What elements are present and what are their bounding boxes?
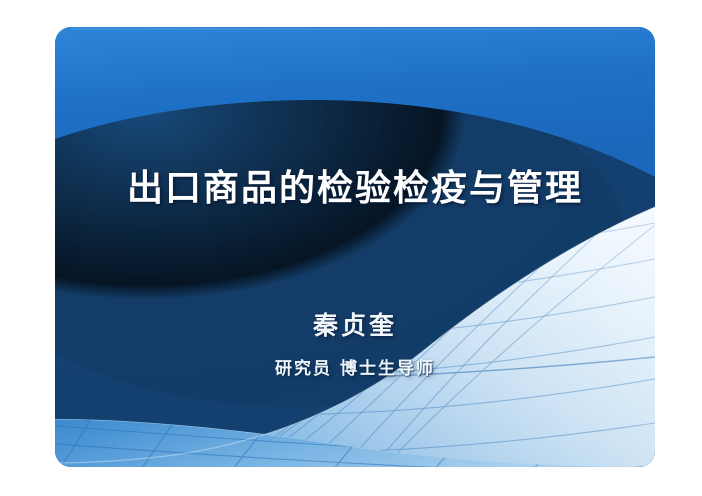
screenshot-canvas: 出口商品的检验检疫与管理 秦贞奎 研究员 博士生导师: [0, 0, 702, 496]
presentation-slide[interactable]: 出口商品的检验检疫与管理 秦贞奎 研究员 博士生导师: [55, 27, 655, 467]
slide-background-graphic: [55, 27, 655, 467]
